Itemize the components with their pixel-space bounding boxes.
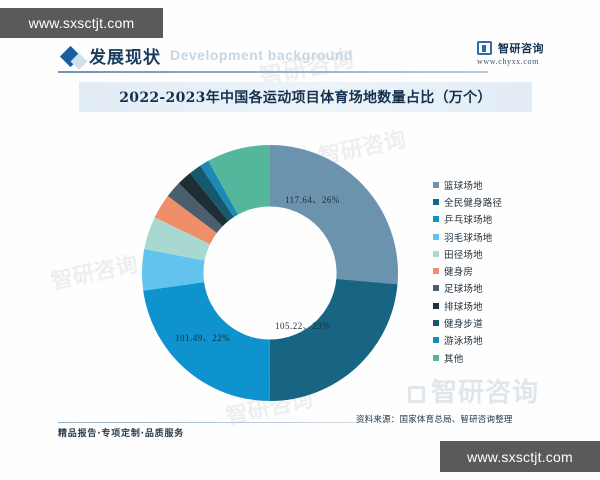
legend-item[interactable]: 健身房 (433, 262, 553, 279)
legend-swatch-icon (433, 216, 439, 222)
legend-label: 游泳场地 (444, 333, 483, 347)
data-label-fitness-path: 105.22、23% (275, 319, 330, 332)
legend-label: 篮球场地 (444, 178, 483, 192)
legend-item[interactable]: 田径场地 (433, 245, 553, 262)
watermark-top-left: www.sxsctjt.com (0, 8, 163, 38)
legend-label: 健身步道 (444, 316, 483, 330)
legend-item[interactable]: 篮球场地 (433, 176, 553, 193)
background-brand-watermark: 智研咨询 (408, 372, 539, 409)
legend-label: 健身房 (444, 264, 473, 278)
legend-label: 羽毛球场地 (444, 230, 493, 244)
chart-title: 2022-2023年中国各运动项目体育场地数量占比（万个） (119, 87, 491, 107)
data-label-table-tennis: 101.49、22% (175, 331, 230, 344)
legend-swatch-icon (433, 268, 439, 274)
legend-label: 足球场地 (444, 281, 483, 295)
legend-swatch-icon (433, 234, 439, 240)
chart-title-bar: 2022-2023年中国各运动项目体育场地数量占比（万个） (79, 82, 532, 112)
chart-legend: 篮球场地全民健身路径乒乓球场地羽毛球场地田径场地健身房足球场地排球场地健身步道游… (433, 176, 553, 366)
legend-swatch-icon (433, 320, 439, 326)
brand-mark-icon (408, 386, 425, 403)
brand-name: 智研咨询 (498, 40, 544, 56)
donut-slice[interactable] (270, 279, 398, 401)
header-divider (58, 71, 488, 73)
donut-slice[interactable] (270, 145, 398, 284)
legend-item[interactable]: 健身步道 (433, 314, 553, 331)
brand-logo: 智研咨询 www.chyxx.com (477, 40, 577, 72)
footer-divider (58, 422, 368, 423)
legend-swatch-icon (433, 337, 439, 343)
legend-swatch-icon (433, 182, 439, 188)
legend-label: 全民健身路径 (444, 195, 502, 209)
legend-swatch-icon (433, 285, 439, 291)
legend-item[interactable]: 排球场地 (433, 297, 553, 314)
legend-item[interactable]: 足球场地 (433, 280, 553, 297)
legend-label: 排球场地 (444, 299, 483, 313)
watermark-bottom-right: www.sxsctjt.com (440, 441, 600, 472)
brand-url: www.chyxx.com (477, 57, 539, 66)
chyxx-logo-icon (477, 41, 492, 55)
slide-canvas: 智研咨询 智研咨询 智研咨询 智研咨询 智研咨询 发展现状 Developmen… (0, 0, 600, 480)
donut-chart: 117.64、26% 105.22、23% 101.49、22% (130, 143, 410, 403)
legend-item[interactable]: 全民健身路径 (433, 193, 553, 210)
section-subtitle: Development background (170, 47, 353, 63)
legend-label: 田径场地 (444, 247, 483, 261)
legend-item[interactable]: 其他 (433, 349, 553, 366)
legend-item[interactable]: 羽毛球场地 (433, 228, 553, 245)
legend-label: 乒乓球场地 (444, 212, 493, 226)
legend-swatch-icon (433, 355, 439, 361)
chart-source-note: 资料来源：国家体育总局、智研咨询整理 (356, 413, 513, 425)
diamond-icon (60, 46, 81, 67)
background-watermark: 智研咨询 (48, 246, 141, 296)
legend-swatch-icon (433, 199, 439, 205)
legend-item[interactable]: 乒乓球场地 (433, 211, 553, 228)
donut-slices (142, 145, 398, 401)
section-header: 发展现状 Development background (58, 42, 546, 78)
legend-item[interactable]: 游泳场地 (433, 332, 553, 349)
legend-swatch-icon (433, 251, 439, 257)
legend-label: 其他 (444, 351, 463, 365)
footer-tagline: 精品报告·专项定制·品质服务 (58, 426, 184, 439)
donut-svg (130, 143, 410, 403)
legend-swatch-icon (433, 303, 439, 309)
data-label-basketball: 117.64、26% (285, 193, 340, 206)
section-title: 发展现状 (89, 43, 161, 68)
